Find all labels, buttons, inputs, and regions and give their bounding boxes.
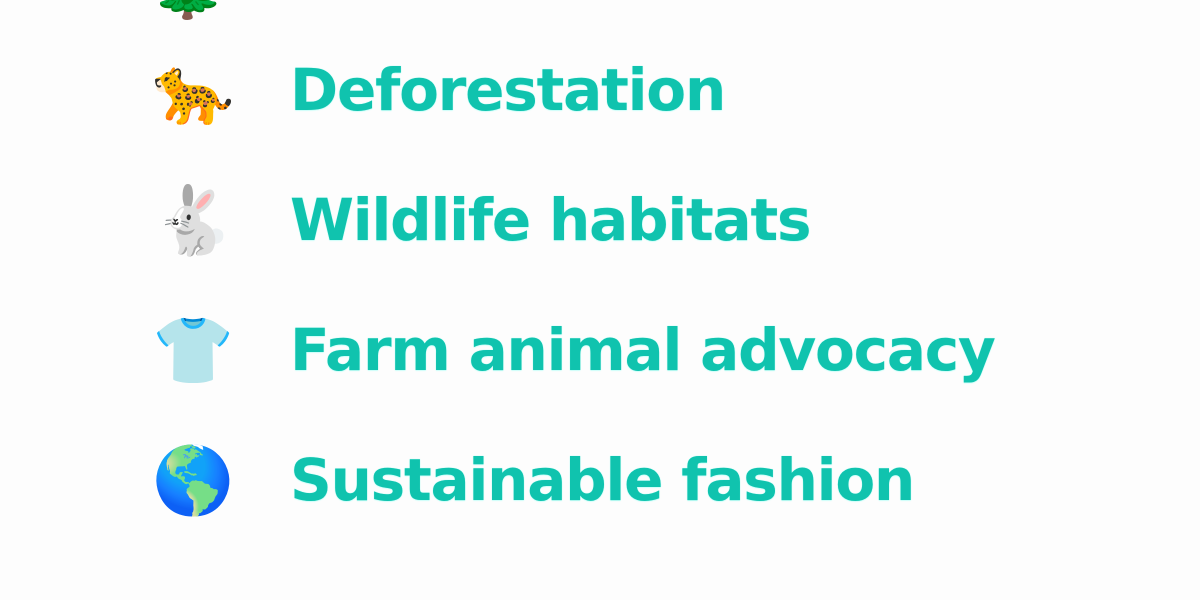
environmental-cause-list: 🌳🌲 Pollution 🐆 Deforestation 🐇 Wildlife … (0, 0, 1200, 545)
list-item[interactable]: 🌳🌲 Pollution (0, 0, 1200, 25)
cause-label: Wildlife habitats (290, 190, 810, 251)
list-item[interactable]: 🌎 Sustainable fashion (0, 415, 1200, 545)
cause-label: Sustainable fashion (290, 450, 914, 511)
rabbit-icon: 🐇 (152, 187, 252, 253)
cause-label: Deforestation (290, 60, 725, 121)
screen: 🌳🌲 Pollution 🐆 Deforestation 🐇 Wildlife … (0, 0, 1200, 600)
cause-label: Farm animal advocacy (290, 320, 995, 381)
trees-icon: 🌳🌲 (152, 0, 252, 18)
globe-americas-icon: 🌎 (152, 447, 252, 513)
tshirt-icon: 👕 (152, 317, 252, 383)
list-item[interactable]: 🐇 Wildlife habitats (0, 155, 1200, 285)
leopard-icon: 🐆 (152, 57, 252, 123)
list-item[interactable]: 🐆 Deforestation (0, 25, 1200, 155)
list-item[interactable]: 👕 Farm animal advocacy (0, 285, 1200, 415)
